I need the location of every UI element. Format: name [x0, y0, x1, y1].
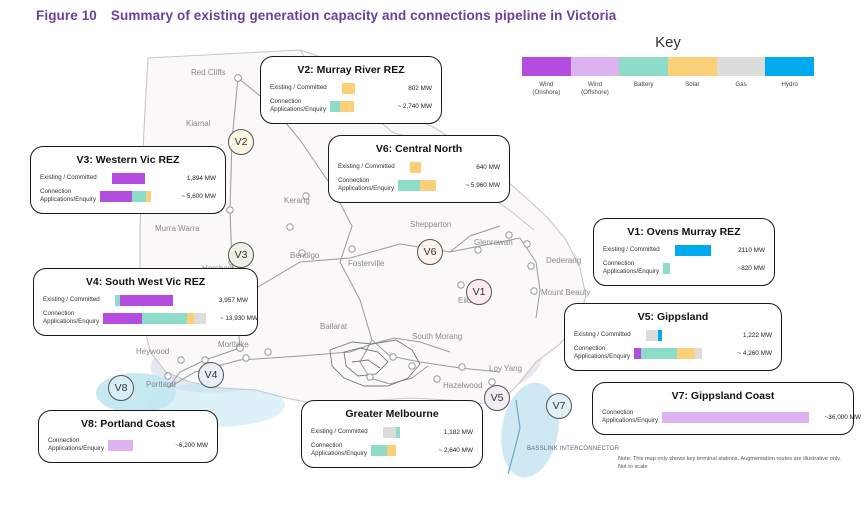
- key-label-row: Wind(Onshore)Wind(Offshore)BatterySolarG…: [522, 81, 814, 98]
- metric-label: Connection Applications/Enquiry: [43, 310, 103, 327]
- metric-label: Connection Applications/Enquiry: [40, 188, 100, 205]
- key-swatch-1: [571, 57, 620, 76]
- metric-value: 1,894 MW: [164, 175, 216, 182]
- metric-value: ~ 4,260 MW: [720, 350, 772, 357]
- metric-label: Existing / Committed: [338, 163, 410, 171]
- bar-area: [662, 412, 809, 423]
- metric-label: Existing / Committed: [311, 428, 383, 436]
- key-label-5: Hydro: [765, 81, 814, 98]
- bar-segment-0: [663, 263, 670, 274]
- stacked-bar: [342, 83, 355, 94]
- bar-segment-1: [641, 348, 677, 359]
- bar-segment-1: [340, 101, 354, 112]
- city-label-glenrowan: Glenrowan: [474, 238, 513, 247]
- bar-segment-0: [383, 427, 396, 438]
- stacked-bar: [663, 263, 670, 274]
- metric-row-connection: Connection Applications/Enquiry~ 2,640 M…: [311, 442, 473, 459]
- stacked-bar: [634, 348, 702, 359]
- key-label-3: Solar: [668, 81, 717, 98]
- bar-segment-0: [646, 330, 658, 341]
- stacked-bar: [383, 427, 400, 438]
- bar-area: [646, 330, 720, 341]
- metric-row-existing: Existing / Committed2110 MW: [603, 245, 765, 256]
- city-label-red-cliffs: Red Cliffs: [191, 68, 226, 77]
- rez-marker-v5[interactable]: V5: [484, 385, 510, 411]
- metric-value: ~ 13,930 MW: [206, 315, 258, 322]
- metric-label: Connection Applications/Enquiry: [338, 177, 398, 194]
- callout-v8-portland-coast[interactable]: V8: Portland CoastConnection Application…: [38, 410, 218, 463]
- stacked-bar: [330, 101, 354, 112]
- metric-value: ~ 5,600 MW: [164, 193, 216, 200]
- rez-marker-v4[interactable]: V4: [198, 362, 224, 388]
- metric-value: 802 MW: [380, 85, 432, 92]
- metric-row-connection: Connection Applications/Enquiry~820 MW: [603, 260, 765, 277]
- metric-row-connection: Connection Applications/Enquiry~ 2,740 M…: [270, 98, 432, 115]
- callout-v6-central-north[interactable]: V6: Central NorthExisting / Committed640…: [328, 135, 510, 203]
- city-label-murra-warra: Murra Warra: [155, 224, 200, 233]
- callout-v5-gippsland[interactable]: V5: GippslandExisting / Committed1,222 M…: [564, 303, 782, 371]
- metric-value: 640 MW: [448, 164, 500, 171]
- bar-segment-0: [634, 348, 641, 359]
- metric-row-existing: Existing / Committed640 MW: [338, 162, 500, 173]
- key-swatch-2: [619, 57, 668, 76]
- stacked-bar: [398, 180, 436, 191]
- stacked-bar: [115, 295, 173, 306]
- callout-greater-melbourne[interactable]: Greater MelbourneExisting / Committed1,1…: [301, 400, 483, 468]
- callout-v2-murray-river-rez[interactable]: V2: Murray River REZExisting / Committed…: [260, 56, 442, 124]
- metric-row-connection: Connection Applications/Enquiry~ 5,600 M…: [40, 188, 216, 205]
- bar-area: [675, 245, 713, 256]
- metric-value: 1,222 MW: [720, 332, 772, 339]
- bar-area: [663, 263, 713, 274]
- metric-label: Existing / Committed: [40, 174, 112, 182]
- bar-area: [112, 173, 164, 184]
- stacked-bar: [646, 330, 662, 341]
- key-swatch-4: [717, 57, 766, 76]
- rez-marker-v2[interactable]: V2: [228, 129, 254, 155]
- bar-area: [383, 427, 421, 438]
- metric-label: Existing / Committed: [43, 296, 115, 304]
- stacked-bar: [103, 313, 206, 324]
- metric-value: ~ 5,960 MW: [448, 182, 500, 189]
- stacked-bar: [662, 412, 809, 423]
- bar-area: [330, 101, 380, 112]
- bar-segment-2: [146, 191, 151, 202]
- bar-segment-3: [695, 348, 702, 359]
- bar-segment-0: [100, 191, 132, 202]
- bar-area: [371, 445, 421, 456]
- key-swatch-3: [668, 57, 717, 76]
- bar-segment-1: [396, 427, 400, 438]
- key-legend: Key Wind(Onshore)Wind(Offshore)BatterySo…: [522, 34, 814, 98]
- city-label-loy-yang: Loy Yang: [489, 364, 522, 373]
- key-label-2: Battery: [619, 81, 668, 98]
- bar-segment-3: [194, 313, 206, 324]
- key-label-4: Gas: [717, 81, 766, 98]
- callout-title: Greater Melbourne: [311, 408, 473, 420]
- callout-title: V1: Ovens Murray REZ: [603, 226, 765, 238]
- metric-label: Connection Applications/Enquiry: [602, 409, 662, 426]
- bar-segment-0: [330, 101, 340, 112]
- city-label-mortlake: Mortlake: [218, 340, 249, 349]
- rez-marker-v6[interactable]: V6: [417, 239, 443, 265]
- map-note: Note: This map only shows key terminal s…: [618, 455, 848, 472]
- callout-title: V5: Gippsland: [574, 311, 772, 323]
- city-label-hazelwood: Hazelwood: [443, 381, 483, 390]
- bar-segment-0: [371, 445, 387, 456]
- city-label-portland: Portland: [146, 380, 176, 389]
- rez-marker-v3[interactable]: V3: [228, 242, 254, 268]
- city-label-shepparton: Shepparton: [410, 220, 451, 229]
- metric-label: Connection Applications/Enquiry: [603, 260, 663, 277]
- city-label-bendigo: Bendigo: [290, 251, 319, 260]
- metric-row-connection: Connection Applications/Enquiry~36,000 M…: [602, 409, 844, 426]
- metric-row-existing: Existing / Committed1,182 MW: [311, 427, 473, 438]
- stacked-bar: [100, 191, 151, 202]
- stacked-bar: [108, 440, 133, 451]
- metric-value: ~6,200 MW: [156, 442, 208, 449]
- callout-v4-south-west-vic-rez[interactable]: V4: South West Vic REZExisting / Committ…: [33, 268, 258, 336]
- metric-row-existing: Existing / Committed1,222 MW: [574, 330, 772, 341]
- callout-v7-gippsland-coast[interactable]: V7: Gippsland CoastConnection Applicatio…: [592, 382, 854, 435]
- metric-value: ~820 MW: [713, 265, 765, 272]
- callout-title: V2: Murray River REZ: [270, 64, 432, 76]
- bar-segment-0: [675, 245, 711, 256]
- bar-segment-1: [420, 180, 436, 191]
- bar-area: [108, 440, 156, 451]
- basslink-interconnector-label: BASSLINK INTERCONNECTOR: [527, 445, 619, 453]
- bar-segment-0: [662, 412, 809, 423]
- stacked-bar: [112, 173, 145, 184]
- metric-value: 3,957 MW: [196, 297, 248, 304]
- callout-v1-ovens-murray-rez[interactable]: V1: Ovens Murray REZExisting / Committed…: [593, 218, 775, 286]
- metric-row-existing: Existing / Committed3,957 MW: [43, 295, 248, 306]
- metric-row-existing: Existing / Committed1,894 MW: [40, 173, 216, 184]
- callout-title: V3: Western Vic REZ: [40, 154, 216, 166]
- metric-value: 1,182 MW: [421, 429, 473, 436]
- metric-row-connection: Connection Applications/Enquiry~ 5,960 M…: [338, 177, 500, 194]
- metric-value: ~ 2,640 MW: [421, 447, 473, 454]
- metric-value: ~ 2,740 MW: [380, 103, 432, 110]
- metric-label: Connection Applications/Enquiry: [270, 98, 330, 115]
- bar-segment-1: [120, 295, 173, 306]
- metric-row-connection: Connection Applications/Enquiry~ 4,260 M…: [574, 345, 772, 362]
- key-color-bar: [522, 57, 814, 76]
- stacked-bar: [410, 162, 421, 173]
- callout-title: V6: Central North: [338, 143, 500, 155]
- metric-value: 2110 MW: [713, 247, 765, 254]
- city-label-kiamal: Kiamal: [186, 119, 210, 128]
- rez-marker-v1[interactable]: V1: [466, 279, 492, 305]
- bar-segment-0: [103, 313, 142, 324]
- metric-label: Connection Applications/Enquiry: [48, 437, 108, 454]
- callout-title: V7: Gippsland Coast: [602, 390, 844, 402]
- bar-segment-1: [658, 330, 662, 341]
- metric-label: Existing / Committed: [574, 331, 646, 339]
- rez-marker-v7[interactable]: V7: [546, 393, 572, 419]
- bar-segment-0: [410, 162, 421, 173]
- key-label-0: Wind(Onshore): [522, 81, 571, 98]
- city-label-kerang: Kerang: [284, 196, 310, 205]
- rez-marker-v8[interactable]: V8: [108, 375, 134, 401]
- bar-area: [342, 83, 380, 94]
- callout-v3-western-vic-rez[interactable]: V3: Western Vic REZExisting / Committed1…: [30, 146, 226, 214]
- bar-segment-1: [132, 191, 146, 202]
- metric-row-existing: Existing / Committed802 MW: [270, 83, 432, 94]
- bar-segment-0: [342, 83, 355, 94]
- callout-title: V8: Portland Coast: [48, 418, 208, 430]
- key-title: Key: [522, 34, 814, 51]
- bar-area: [410, 162, 448, 173]
- key-swatch-0: [522, 57, 571, 76]
- bar-area: [103, 313, 206, 324]
- callout-title: V4: South West Vic REZ: [43, 276, 248, 288]
- metric-value: ~36,000 MW: [809, 414, 861, 421]
- metric-label: Connection Applications/Enquiry: [574, 345, 634, 362]
- stacked-bar: [675, 245, 711, 256]
- city-label-dederang: Dederang: [546, 256, 581, 265]
- bar-area: [398, 180, 448, 191]
- metric-row-connection: Connection Applications/Enquiry~6,200 MW: [48, 437, 208, 454]
- bar-segment-1: [142, 313, 187, 324]
- bar-segment-2: [187, 313, 194, 324]
- bar-segment-0: [398, 180, 420, 191]
- bar-segment-0: [112, 173, 145, 184]
- metric-label: Connection Applications/Enquiry: [311, 442, 371, 459]
- bar-area: [115, 295, 196, 306]
- bar-area: [634, 348, 720, 359]
- city-label-mount-beauty: Mount Beauty: [541, 288, 590, 297]
- metric-label: Existing / Committed: [603, 246, 675, 254]
- bar-segment-2: [677, 348, 695, 359]
- bar-segment-0: [108, 440, 133, 451]
- city-label-south-morang: South Morang: [412, 332, 462, 341]
- bar-segment-1: [387, 445, 396, 456]
- metric-row-connection: Connection Applications/Enquiry~ 13,930 …: [43, 310, 248, 327]
- city-label-fosterville: Fosterville: [348, 259, 384, 268]
- key-label-1: Wind(Offshore): [571, 81, 620, 98]
- city-label-heywood: Heywood: [136, 347, 169, 356]
- metric-label: Existing / Committed: [270, 84, 342, 92]
- stacked-bar: [371, 445, 396, 456]
- bar-area: [100, 191, 164, 202]
- city-label-ballarat: Ballarat: [320, 322, 347, 331]
- key-swatch-5: [765, 57, 814, 76]
